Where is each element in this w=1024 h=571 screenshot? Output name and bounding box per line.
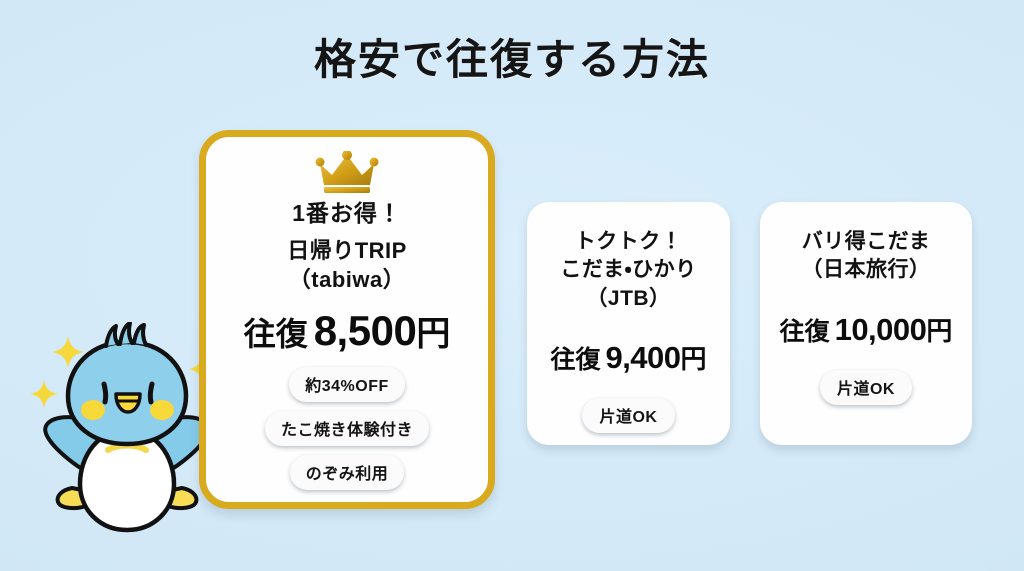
card-badge: 片道OK (820, 370, 912, 405)
card-badge: 約34%OFF (289, 367, 405, 402)
price-unit: 円 (926, 311, 952, 348)
card-plan-name-line3: （JTB） (560, 285, 696, 313)
infographic-canvas: 格安で往復する方法 (0, 0, 1024, 571)
price-label: 往復 (550, 340, 600, 376)
card-plan-name-line2: （tabiwa） (287, 265, 407, 294)
card-badge-list: 約34%OFF たこ焼き体験付き のぞみ利用 (265, 367, 429, 490)
price-amount: 10,000 (835, 312, 927, 348)
card-plan-name: 日帰りTRIP （tabiwa） (287, 236, 407, 294)
card-plan-name-line2: こだま・ひかり (560, 256, 696, 284)
price-unit: 円 (416, 306, 450, 355)
card-plan-name-line1: バリ得こだま (802, 228, 931, 256)
price-amount: 8,500 (314, 307, 417, 355)
sparkle-icon (30, 380, 58, 408)
card-badge: のぞみ利用 (290, 455, 405, 490)
card-price: 往復 8,500 円 (244, 306, 451, 355)
price-unit: 円 (681, 339, 707, 376)
price-amount: 9,400 (605, 340, 680, 376)
card-badge: 片道OK (582, 398, 674, 433)
card-plan-name: トクトク！ こだま・ひかり （JTB） (560, 228, 696, 313)
page-title: 格安で往復する方法 (0, 36, 1024, 84)
card-price: 往復 9,400 円 (550, 339, 706, 376)
plan-card-second[interactable]: トクトク！ こだま・ひかり （JTB） 往復 9,400 円 片道OK (527, 202, 730, 445)
card-badge: たこ焼き体験付き (265, 411, 429, 446)
card-plan-name-line1: トクトク！ (560, 228, 696, 256)
crown-icon (315, 151, 379, 195)
card-eyebrow: 1番お得！ (292, 199, 402, 229)
plan-card-third[interactable]: バリ得こだま （日本旅行） 往復 10,000 円 片道OK (760, 202, 972, 445)
card-plan-name-line1: 日帰りTRIP (287, 236, 407, 265)
card-price: 往復 10,000 円 (780, 311, 953, 348)
price-label: 往復 (244, 309, 308, 355)
plan-card-featured[interactable]: 1番お得！ 日帰りTRIP （tabiwa） 往復 8,500 円 約34%OF… (199, 130, 495, 509)
card-plan-name-line2: （日本旅行） (802, 256, 931, 284)
card-plan-name: バリ得こだま （日本旅行） (802, 228, 931, 285)
price-label: 往復 (780, 312, 830, 348)
